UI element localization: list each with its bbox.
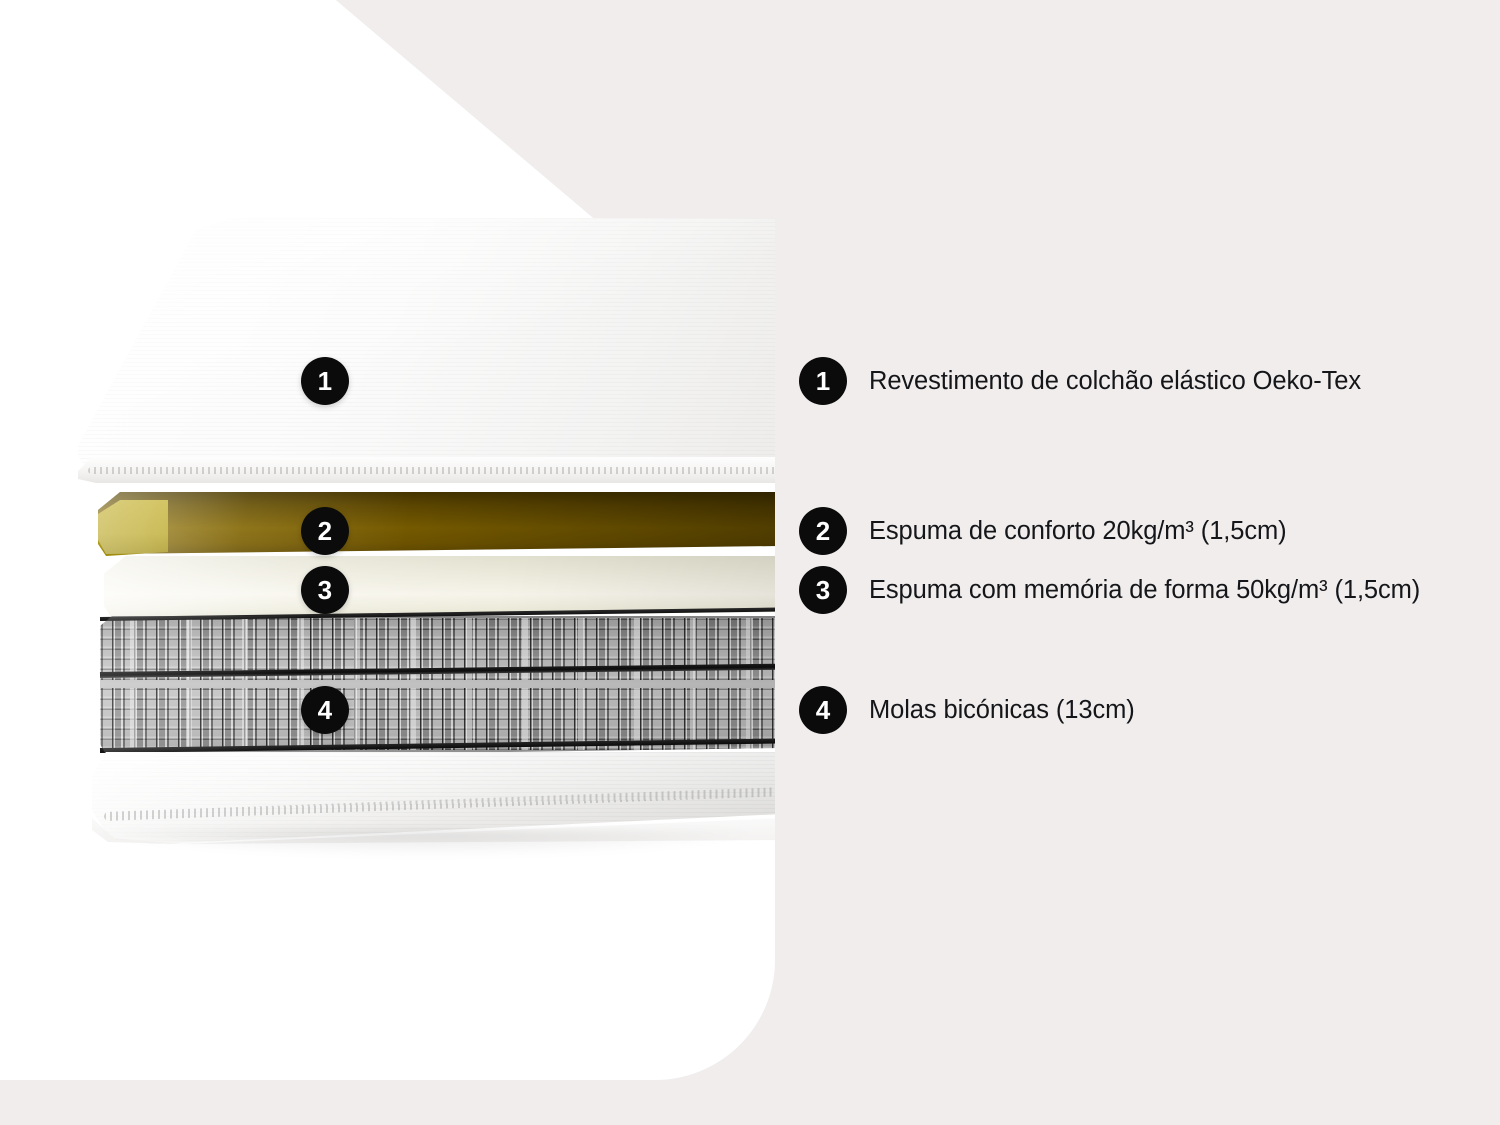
- legend-list: 1 Revestimento de colchão elástico Oeko-…: [799, 0, 1489, 1125]
- cover-piping-stitch: [78, 455, 778, 483]
- mattress-marker-3: 3: [301, 566, 349, 614]
- spring-core-shading: [100, 616, 778, 758]
- mattress-marker-1: 1: [301, 357, 349, 405]
- legend-badge-3: 3: [799, 566, 847, 614]
- infographic-stage: 1 2 3 4 1 Revestimento de colchão elásti…: [0, 0, 1500, 1125]
- legend-label-2: Espuma de conforto 20kg/m³ (1,5cm): [869, 517, 1287, 546]
- cover-sheen: [78, 218, 778, 483]
- legend-badge-4: 4: [799, 686, 847, 734]
- mattress-illustration: [0, 0, 790, 1125]
- mattress-layer-1-cover: [78, 218, 778, 483]
- legend-item-1: 1 Revestimento de colchão elástico Oeko-…: [799, 357, 1361, 405]
- mattress-marker-2: 2: [301, 507, 349, 555]
- legend-label-1: Revestimento de colchão elástico Oeko-Te…: [869, 367, 1361, 396]
- legend-label-3: Espuma com memória de forma 50kg/m³ (1,5…: [869, 576, 1420, 605]
- legend-item-3: 3 Espuma com memória de forma 50kg/m³ (1…: [799, 566, 1420, 614]
- legend-item-4: 4 Molas bicónicas (13cm): [799, 686, 1135, 734]
- mattress-marker-4: 4: [301, 686, 349, 734]
- legend-item-2: 2 Espuma de conforto 20kg/m³ (1,5cm): [799, 507, 1287, 555]
- legend-badge-2: 2: [799, 507, 847, 555]
- mattress-drop-shadow: [96, 830, 756, 856]
- legend-label-4: Molas bicónicas (13cm): [869, 696, 1135, 725]
- comfort-foam-sheen: [98, 492, 778, 554]
- legend-badge-1: 1: [799, 357, 847, 405]
